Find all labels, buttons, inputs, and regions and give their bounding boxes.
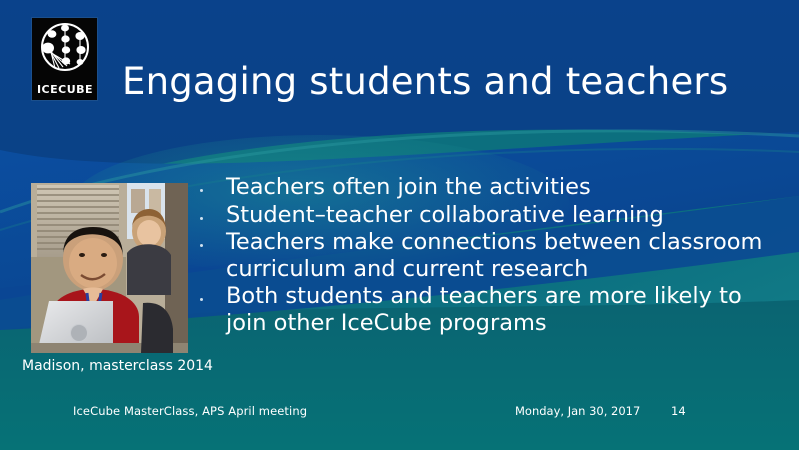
bullet-dot-icon — [200, 244, 203, 247]
icecube-globe-icon — [37, 21, 93, 79]
list-item: Both students and teachers are more like… — [196, 283, 776, 336]
footer-date-text: Monday, Jan 30, 2017 — [515, 404, 640, 418]
bullet-dot-icon — [200, 217, 203, 220]
footer-left-text: IceCube MasterClass, APS April meeting — [73, 404, 307, 418]
bullet-text: Student–teacher collaborative learning — [226, 202, 664, 228]
bullet-text: Teachers often join the activities — [226, 174, 591, 200]
photo-illustration — [31, 183, 188, 353]
presentation-slide: ICECUBE Engaging students and teachers — [0, 0, 799, 450]
list-item: Teachers make connections between classr… — [196, 229, 776, 282]
bullet-dot-icon — [200, 298, 203, 301]
icecube-logo: ICECUBE — [31, 17, 98, 101]
footer-page-number: 14 — [671, 404, 686, 418]
bullet-text: Both students and teachers are more like… — [226, 283, 742, 336]
svg-text:ICECUBE: ICECUBE — [36, 83, 92, 96]
list-item: Teachers often join the activities — [196, 174, 776, 201]
list-item: Student–teacher collaborative learning — [196, 202, 776, 229]
icecube-wordmark: ICECUBE — [36, 82, 94, 96]
bullet-dot-icon — [200, 189, 203, 192]
student-at-laptop-photo — [31, 183, 188, 353]
bullet-list: Teachers often join the activities Stude… — [196, 174, 776, 337]
photo-caption: Madison, masterclass 2014 — [22, 358, 222, 375]
bullet-text: Teachers make connections between classr… — [226, 229, 762, 282]
page-title: Engaging students and teachers — [122, 60, 728, 104]
